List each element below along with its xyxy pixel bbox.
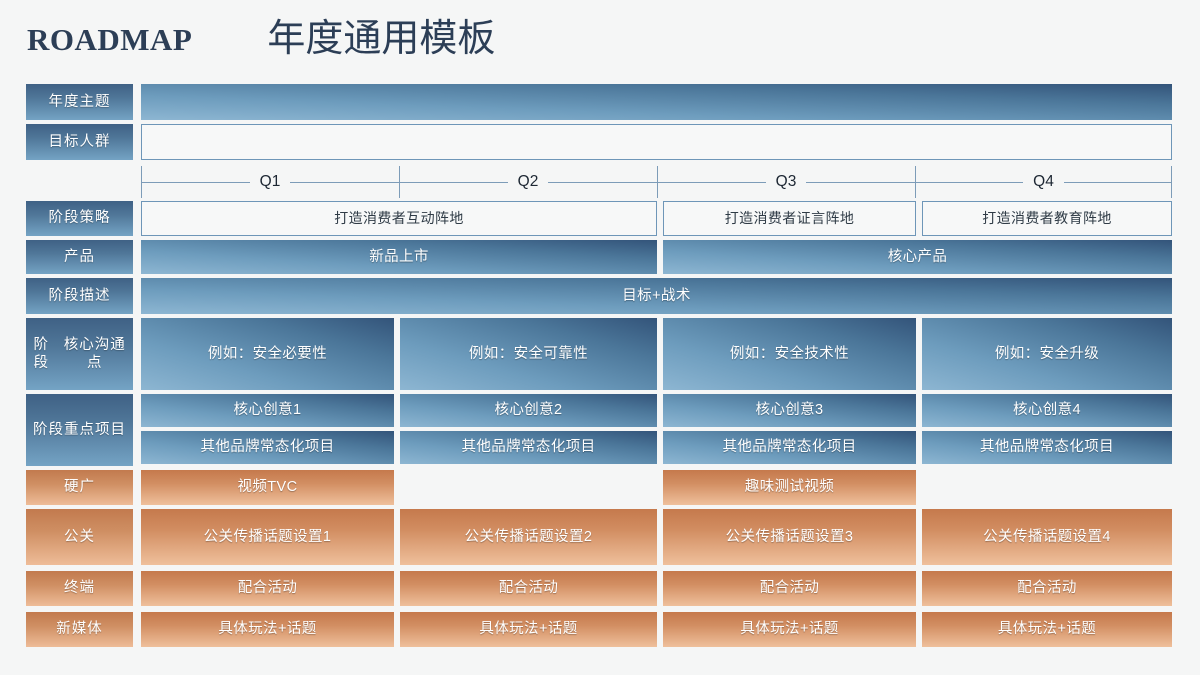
quarter-header-q2: Q2: [399, 164, 657, 200]
cell-hard-ads-q1[interactable]: 视频TVC: [141, 470, 394, 505]
row-label-phase-strategy: 阶段策略: [26, 201, 133, 236]
cell-key-project-other-q2[interactable]: 其他品牌常态化项目: [400, 431, 657, 464]
row-phase-key-projects-bottom: 其他品牌常态化项目 其他品牌常态化项目 其他品牌常态化项目 其他品牌常态化项目: [26, 431, 1172, 464]
quarter-tick-q4-right: [1171, 166, 1172, 198]
quarter-tick-q2-left: [399, 166, 400, 198]
cell-key-project-other-q1[interactable]: 其他品牌常态化项目: [141, 431, 394, 464]
cell-key-project-core-idea-q4[interactable]: 核心创意4: [922, 394, 1172, 427]
cell-phase-strategy-q3[interactable]: 打造消费者证言阵地: [663, 201, 916, 236]
row-content-phase-core-communication: 例如：安全必要性 例如：安全可靠性 例如：安全技术性 例如：安全升级: [141, 318, 1172, 390]
cell-core-communication-q3[interactable]: 例如：安全技术性: [663, 318, 916, 390]
cell-annual-theme-value[interactable]: [141, 84, 1172, 120]
row-label-line-1: 阶段: [26, 336, 57, 372]
cell-new-media-q3[interactable]: 具体玩法+话题: [663, 612, 916, 647]
row-content-public-relations: 公关传播话题设置1 公关传播话题设置2 公关传播话题设置3 公关传播话题设置4: [141, 509, 1172, 565]
quarter-label-q1: Q1: [250, 174, 291, 190]
row-label-terminal: 终端: [26, 571, 133, 606]
cell-key-project-core-idea-q3[interactable]: 核心创意3: [663, 394, 916, 427]
row-content-terminal: 配合活动 配合活动 配合活动 配合活动: [141, 571, 1172, 606]
row-label-line-2: 核心沟通点: [57, 336, 133, 372]
row-label-phase-description: 阶段描述: [26, 278, 133, 314]
row-label-annual-theme: 年度主题: [26, 84, 133, 120]
cell-phase-description-full[interactable]: 目标+战术: [141, 278, 1172, 314]
cell-hard-ads-q4-empty[interactable]: [922, 470, 1172, 505]
quarter-header-row: Q1 Q2 Q3 Q4: [141, 164, 1172, 200]
page-header: ROADMAP 年度通用模板: [0, 0, 1200, 78]
row-content-key-projects-top: 核心创意1 核心创意2 核心创意3 核心创意4: [141, 394, 1172, 427]
row-content-phase-strategy: 打造消费者互动阵地 打造消费者证言阵地 打造消费者教育阵地: [141, 201, 1172, 236]
roadmap-board: 年度主题 目标人群 Q1 Q2 Q3 Q: [26, 84, 1172, 654]
cell-hard-ads-q3[interactable]: 趣味测试视频: [663, 470, 916, 505]
row-product: 产品 新品上市 核心产品: [26, 240, 1172, 274]
row-content-product: 新品上市 核心产品: [141, 240, 1172, 274]
quarter-header-q3: Q3: [657, 164, 915, 200]
cell-product-q1q2[interactable]: 新品上市: [141, 240, 657, 274]
row-content-annual-theme: [141, 84, 1172, 120]
quarter-header-q4: Q4: [915, 164, 1172, 200]
row-label-hard-ads: 硬广: [26, 470, 133, 505]
cell-new-media-q2[interactable]: 具体玩法+话题: [400, 612, 657, 647]
cell-core-communication-q4[interactable]: 例如：安全升级: [922, 318, 1172, 390]
cell-terminal-q4[interactable]: 配合活动: [922, 571, 1172, 606]
row-label-product: 产品: [26, 240, 133, 274]
row-target-audience: 目标人群: [26, 124, 1172, 160]
cell-product-q3q4[interactable]: 核心产品: [663, 240, 1172, 274]
row-label-phase-core-communication: 阶段 核心沟通点: [26, 318, 133, 390]
page-title-english: ROADMAP: [27, 24, 192, 55]
cell-terminal-q2[interactable]: 配合活动: [400, 571, 657, 606]
cell-key-project-other-q3[interactable]: 其他品牌常态化项目: [663, 431, 916, 464]
cell-pr-q2[interactable]: 公关传播话题设置2: [400, 509, 657, 565]
cell-terminal-q3[interactable]: 配合活动: [663, 571, 916, 606]
row-label-new-media: 新媒体: [26, 612, 133, 647]
cell-pr-q1[interactable]: 公关传播话题设置1: [141, 509, 394, 565]
quarter-header-q1: Q1: [141, 164, 399, 200]
cell-phase-strategy-q1q2[interactable]: 打造消费者互动阵地: [141, 201, 657, 236]
cell-key-project-other-q4[interactable]: 其他品牌常态化项目: [922, 431, 1172, 464]
cell-key-project-core-idea-q1[interactable]: 核心创意1: [141, 394, 394, 427]
row-public-relations: 公关 公关传播话题设置1 公关传播话题设置2 公关传播话题设置3 公关传播话题设…: [26, 509, 1172, 565]
row-content-phase-description: 目标+战术: [141, 278, 1172, 314]
row-label-spacer: [26, 431, 133, 464]
cell-hard-ads-q2-empty[interactable]: [400, 470, 657, 505]
quarter-label-q3: Q3: [766, 174, 807, 190]
cell-target-audience-value[interactable]: [141, 124, 1172, 160]
cell-phase-strategy-q4[interactable]: 打造消费者教育阵地: [922, 201, 1172, 236]
quarter-tick-q4-left: [915, 166, 916, 198]
row-phase-core-communication: 阶段 核心沟通点 例如：安全必要性 例如：安全可靠性 例如：安全技术性 例如：安…: [26, 318, 1172, 390]
cell-pr-q4[interactable]: 公关传播话题设置4: [922, 509, 1172, 565]
cell-terminal-q1[interactable]: 配合活动: [141, 571, 394, 606]
cell-core-communication-q2[interactable]: 例如：安全可靠性: [400, 318, 657, 390]
row-phase-key-projects-top: 阶段 重点项目 核心创意1 核心创意2 核心创意3 核心创意4: [26, 394, 1172, 427]
row-content-target-audience: [141, 124, 1172, 160]
cell-core-communication-q1[interactable]: 例如：安全必要性: [141, 318, 394, 390]
cell-key-project-core-idea-q2[interactable]: 核心创意2: [400, 394, 657, 427]
cell-new-media-q1[interactable]: 具体玩法+话题: [141, 612, 394, 647]
row-label-target-audience: 目标人群: [26, 124, 133, 160]
row-hard-ads: 硬广 视频TVC 趣味测试视频: [26, 470, 1172, 505]
row-phase-description: 阶段描述 目标+战术: [26, 278, 1172, 314]
quarter-tick-q3-left: [657, 166, 658, 198]
page-title-chinese: 年度通用模板: [267, 20, 495, 58]
row-content-key-projects-bottom: 其他品牌常态化项目 其他品牌常态化项目 其他品牌常态化项目 其他品牌常态化项目: [141, 431, 1172, 464]
row-content-hard-ads: 视频TVC 趣味测试视频: [141, 470, 1172, 505]
quarter-tick-q1-left: [141, 166, 142, 198]
row-new-media: 新媒体 具体玩法+话题 具体玩法+话题 具体玩法+话题 具体玩法+话题: [26, 612, 1172, 647]
row-terminal: 终端 配合活动 配合活动 配合活动 配合活动: [26, 571, 1172, 606]
quarter-label-q2: Q2: [508, 174, 549, 190]
row-content-new-media: 具体玩法+话题 具体玩法+话题 具体玩法+话题 具体玩法+话题: [141, 612, 1172, 647]
row-phase-strategy: 阶段策略 打造消费者互动阵地 打造消费者证言阵地 打造消费者教育阵地: [26, 201, 1172, 236]
cell-pr-q3[interactable]: 公关传播话题设置3: [663, 509, 916, 565]
row-annual-theme: 年度主题: [26, 84, 1172, 120]
row-label-public-relations: 公关: [26, 509, 133, 565]
quarter-label-q4: Q4: [1023, 174, 1064, 190]
cell-new-media-q4[interactable]: 具体玩法+话题: [922, 612, 1172, 647]
